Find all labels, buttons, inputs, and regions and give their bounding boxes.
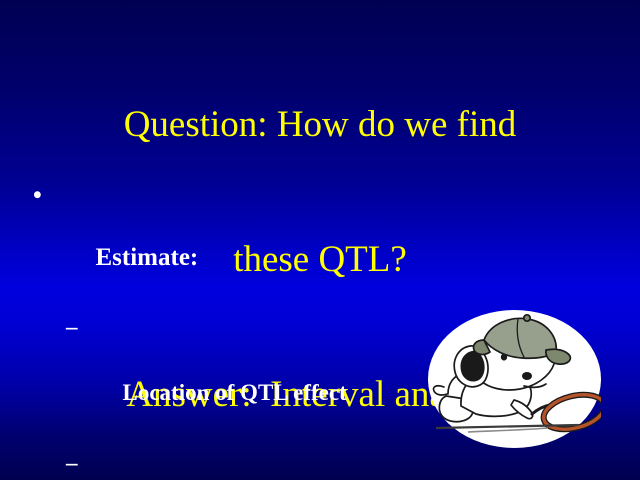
bullet-item-magnitude: – Magnitude of QTL effect xyxy=(0,446,640,480)
bullet-item-estimate: • Estimate: xyxy=(0,180,640,304)
bullet-marker-dot: • xyxy=(33,180,42,211)
presentation-slide: Question: How do we find these QTL? Answ… xyxy=(0,0,640,480)
bullet-marker-dash: – xyxy=(66,446,78,479)
bullet-text-location: Location of QTL effect xyxy=(123,380,347,405)
deerstalker-button xyxy=(524,315,530,321)
snoopy-detective-image xyxy=(428,310,601,448)
snoopy-nose xyxy=(522,372,532,380)
snoopy-detective-icon xyxy=(428,310,601,448)
bullet-text-estimate: Estimate: xyxy=(96,244,199,271)
title-line-1: Question: How do we find xyxy=(0,102,640,147)
bullet-marker-dash: – xyxy=(66,310,78,343)
